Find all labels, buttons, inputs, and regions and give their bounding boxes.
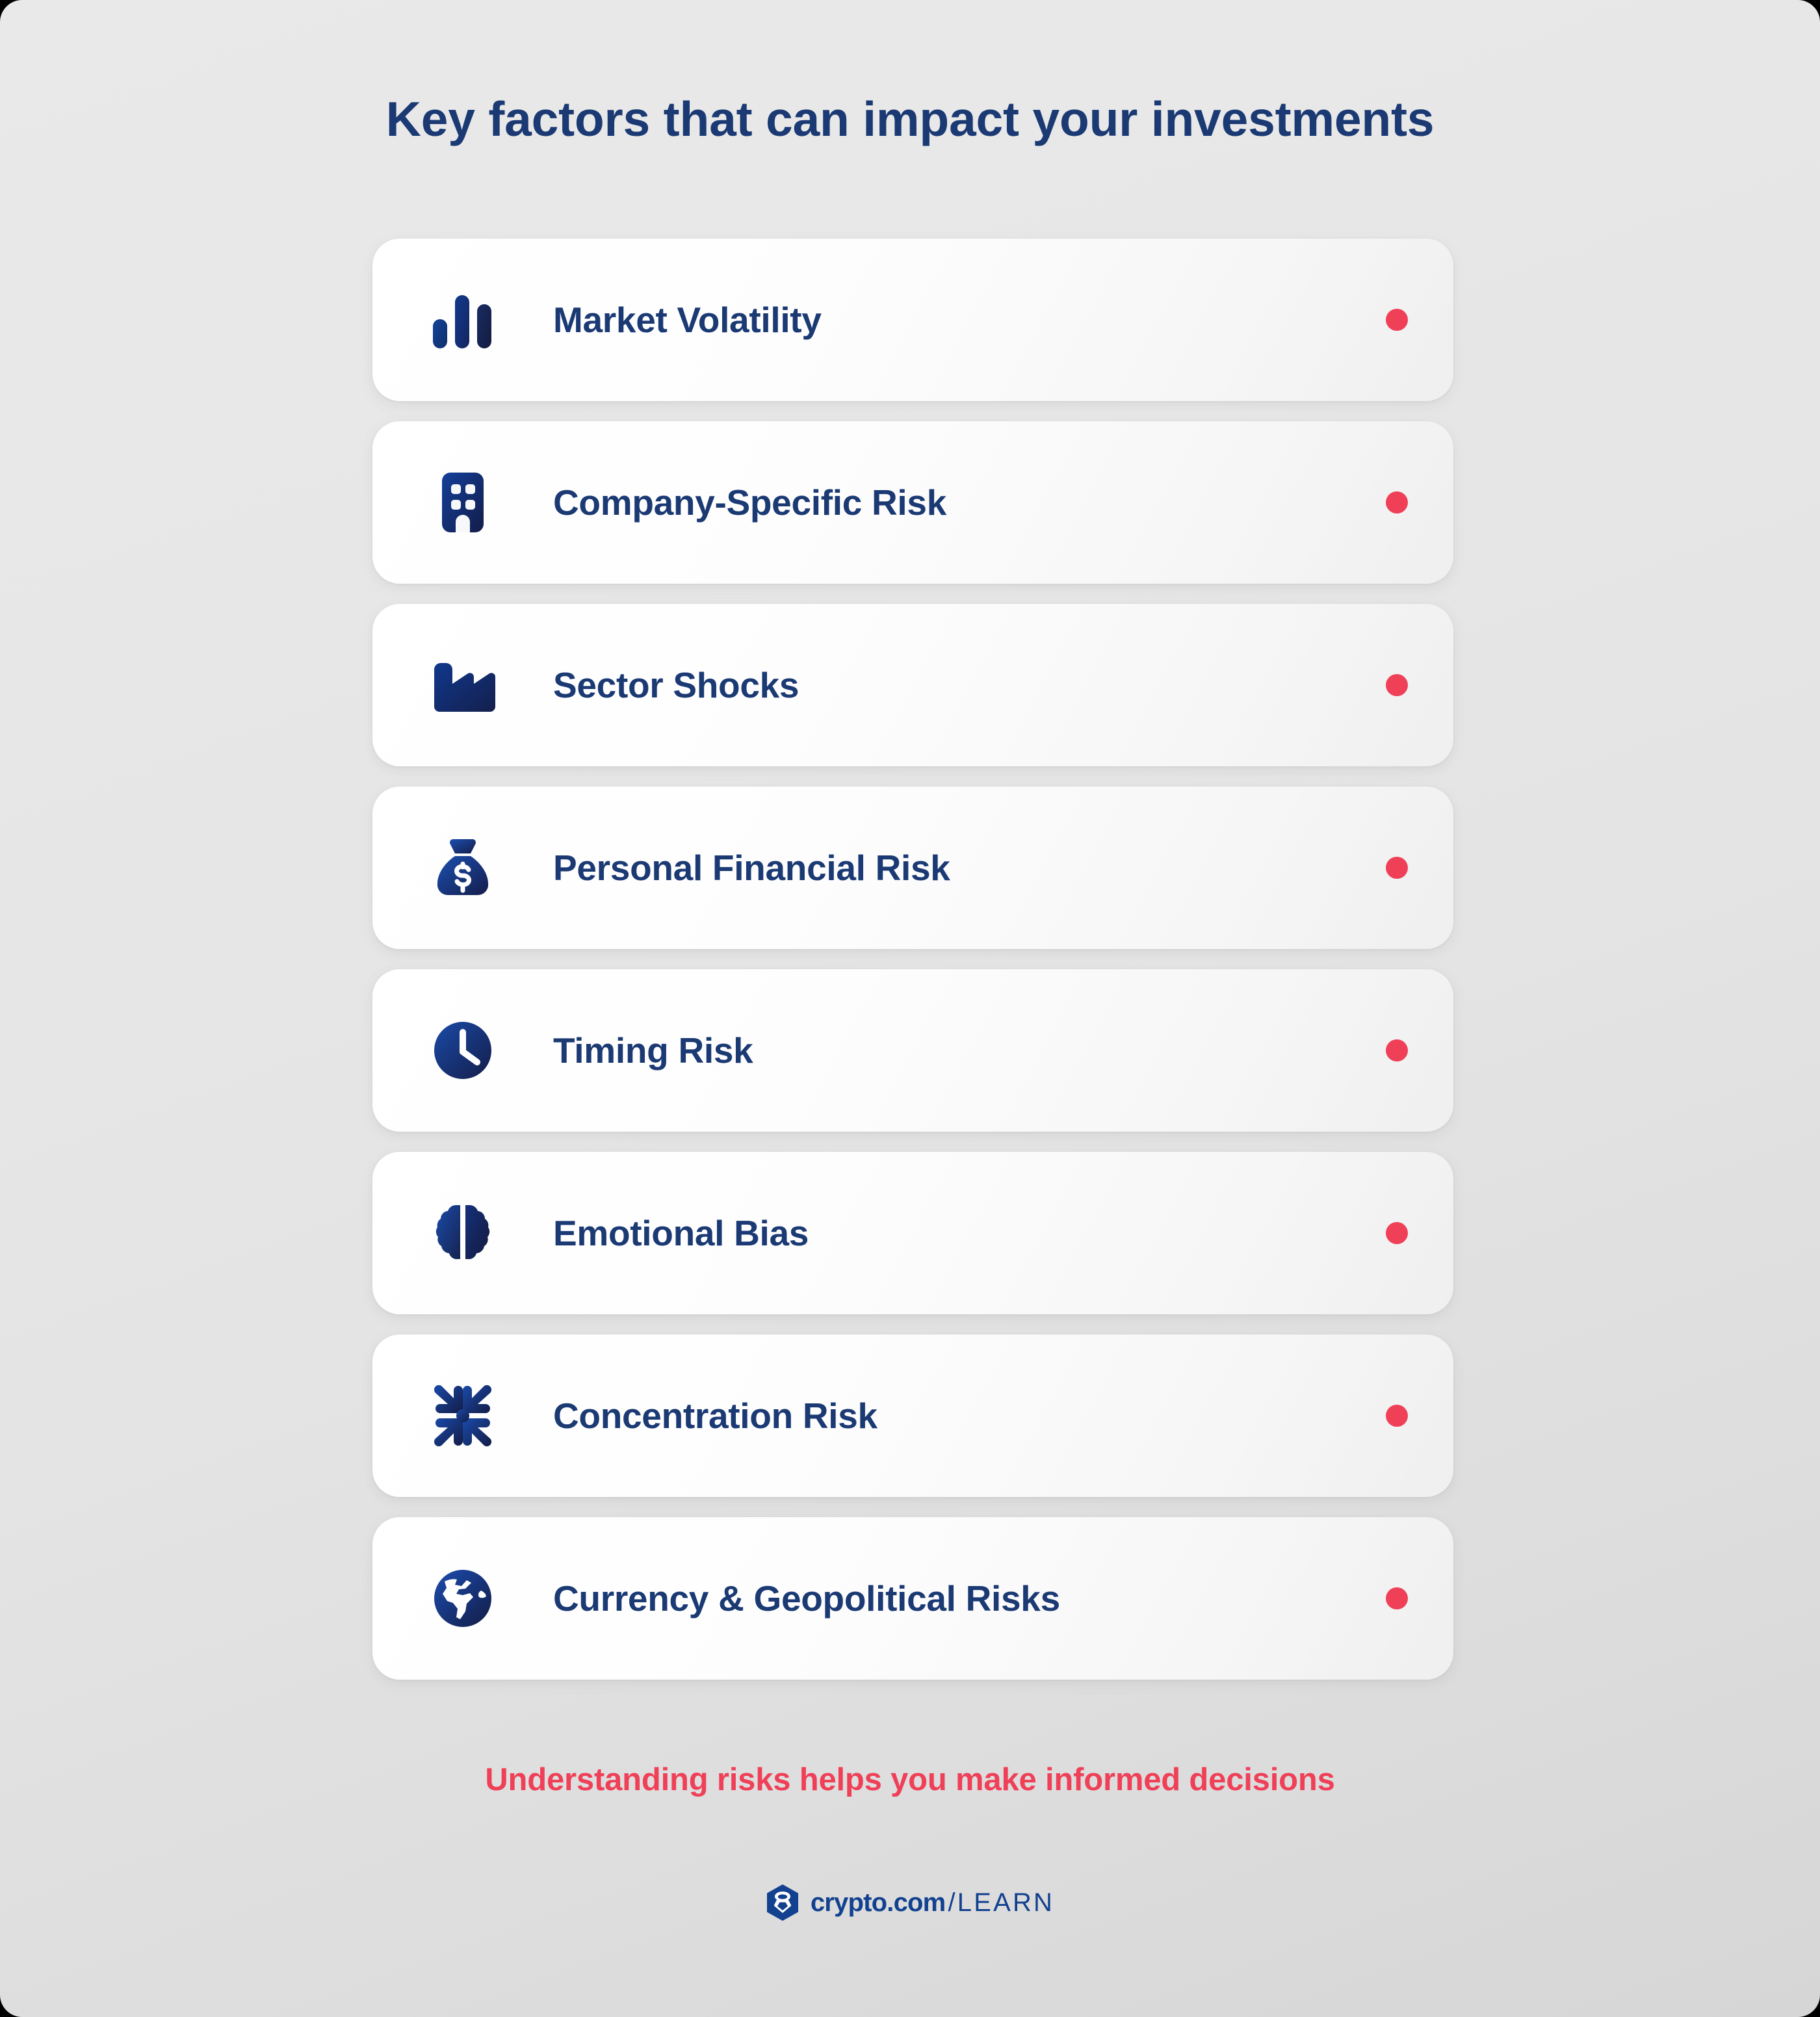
- list-item[interactable]: Concentration Risk: [372, 1334, 1453, 1497]
- risk-factor-list: Market Volatility: [372, 239, 1453, 1680]
- list-item[interactable]: Company-Specific Risk: [372, 421, 1453, 584]
- list-item[interactable]: Personal Financial Risk: [372, 787, 1453, 949]
- brand-name: crypto.com: [811, 1888, 946, 1917]
- money-bag-icon: [372, 834, 553, 902]
- brand-separator: /: [948, 1888, 954, 1917]
- status-marker: [1340, 1587, 1453, 1609]
- list-item-label: Timing Risk: [553, 1031, 1340, 1071]
- compress-arrows-icon: [372, 1382, 553, 1450]
- status-marker: [1340, 1039, 1453, 1061]
- status-marker: [1340, 491, 1453, 514]
- list-item-label: Personal Financial Risk: [553, 848, 1340, 888]
- list-item[interactable]: Market Volatility: [372, 239, 1453, 401]
- list-item-label: Currency & Geopolitical Risks: [553, 1579, 1340, 1619]
- page-title: Key factors that can impact your investm…: [0, 91, 1820, 147]
- status-marker: [1340, 1222, 1453, 1244]
- list-item[interactable]: Timing Risk: [372, 969, 1453, 1132]
- crypto-com-logo-icon: [766, 1884, 799, 1921]
- list-item[interactable]: Sector Shocks: [372, 604, 1453, 766]
- brain-icon: [372, 1199, 553, 1267]
- building-icon: [372, 469, 553, 536]
- infographic-canvas: Key factors that can impact your investm…: [0, 0, 1820, 2017]
- brand-section: LEARN: [957, 1888, 1054, 1917]
- status-marker: [1340, 309, 1453, 331]
- list-item[interactable]: Emotional Bias: [372, 1152, 1453, 1314]
- bar-chart-icon: [372, 286, 553, 354]
- brand-lockup: crypto.com/LEARN: [0, 1884, 1820, 1921]
- status-marker: [1340, 857, 1453, 879]
- list-item-label: Market Volatility: [553, 300, 1340, 340]
- list-item-label: Concentration Risk: [553, 1396, 1340, 1436]
- list-item-label: Company-Specific Risk: [553, 483, 1340, 523]
- footer-tagline: Understanding risks helps you make infor…: [0, 1762, 1820, 1798]
- list-item-label: Emotional Bias: [553, 1214, 1340, 1253]
- factory-icon: [372, 651, 553, 719]
- list-item[interactable]: Currency & Geopolitical Risks: [372, 1517, 1453, 1680]
- status-marker: [1340, 674, 1453, 696]
- clock-icon: [372, 1017, 553, 1084]
- globe-icon: [372, 1565, 553, 1632]
- status-marker: [1340, 1405, 1453, 1427]
- list-item-label: Sector Shocks: [553, 666, 1340, 705]
- brand-text: crypto.com/LEARN: [811, 1890, 1054, 1916]
